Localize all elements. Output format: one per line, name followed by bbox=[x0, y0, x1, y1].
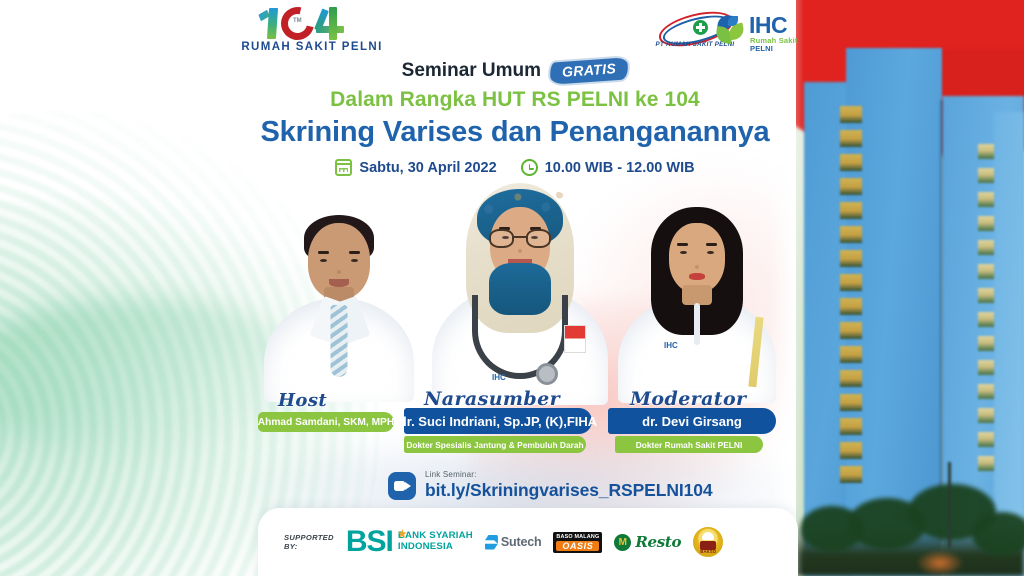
bakso-caption: BAKSO bbox=[699, 549, 717, 554]
bsi-wordmark: BSI bbox=[346, 527, 393, 557]
seminar-link-url[interactable]: bit.ly/Skriningvarises_RSPELNI104 bbox=[425, 480, 713, 501]
role-label-narasumber: Narasumber bbox=[424, 388, 560, 410]
speaker-name-moderator: dr. Devi Girsang bbox=[608, 408, 776, 434]
oasis-top-text: BASO MALANG bbox=[556, 534, 599, 540]
sponsor-logo-bakso-chef: BAKSO bbox=[693, 527, 723, 557]
bsi-fullname-line1: BANK SYARIAH bbox=[398, 530, 473, 541]
supported-by-label: SUPPORTED BY: bbox=[284, 533, 334, 552]
speaker-subtitle-narasumber: Dokter Spesialis Jantung & Pembuluh Dara… bbox=[404, 436, 586, 453]
speaker-subtitle-moderator: Dokter Rumah Sakit PELNI bbox=[615, 436, 763, 453]
seminar-link-text[interactable]: Link Seminar: bit.ly/Skriningvarises_RSP… bbox=[425, 470, 713, 501]
role-label-moderator: Moderator bbox=[630, 388, 746, 410]
bsi-fullname-line2: INDONESIA bbox=[398, 541, 453, 552]
sponsor-logo-sutech: Sutech bbox=[485, 535, 541, 550]
sponsor-logo-resto: M Resto bbox=[614, 533, 681, 551]
zoom-video-icon bbox=[388, 472, 416, 500]
supported-by-line2: BY: bbox=[284, 542, 334, 551]
sutech-s-icon bbox=[485, 535, 498, 550]
resto-badge-icon: M bbox=[614, 534, 631, 551]
resto-wordmark: Resto bbox=[635, 533, 681, 551]
speaker-name-narasumber: dr. Suci Indriani, Sp.JP, (K),FIHA bbox=[404, 408, 592, 434]
sutech-wordmark: Sutech bbox=[501, 535, 541, 549]
sponsor-logo-bsi: BSI BANK SYARIAH INDONESIA bbox=[346, 527, 473, 557]
speaker-name-host: Ahmad Samdani, SKM, MPH bbox=[258, 412, 394, 432]
seminar-link-label: Link Seminar: bbox=[425, 470, 713, 479]
seminar-link-row[interactable]: Link Seminar: bit.ly/Skriningvarises_RSP… bbox=[388, 470, 713, 501]
oasis-wordmark: OASIS bbox=[556, 541, 599, 551]
bsi-fullname: BANK SYARIAH INDONESIA bbox=[398, 531, 473, 552]
seminar-poster: TM RUMAH SAKIT PELNI PT RUMAH SAKIT PELN… bbox=[0, 0, 1024, 576]
sponsor-bar: SUPPORTED BY: BSI BANK SYARIAH INDONESIA… bbox=[258, 508, 798, 576]
role-label-host: Host bbox=[278, 390, 327, 411]
sponsor-logo-oasis: BASO MALANG OASIS bbox=[553, 532, 602, 553]
supported-by-line1: SUPPORTED bbox=[284, 533, 334, 542]
